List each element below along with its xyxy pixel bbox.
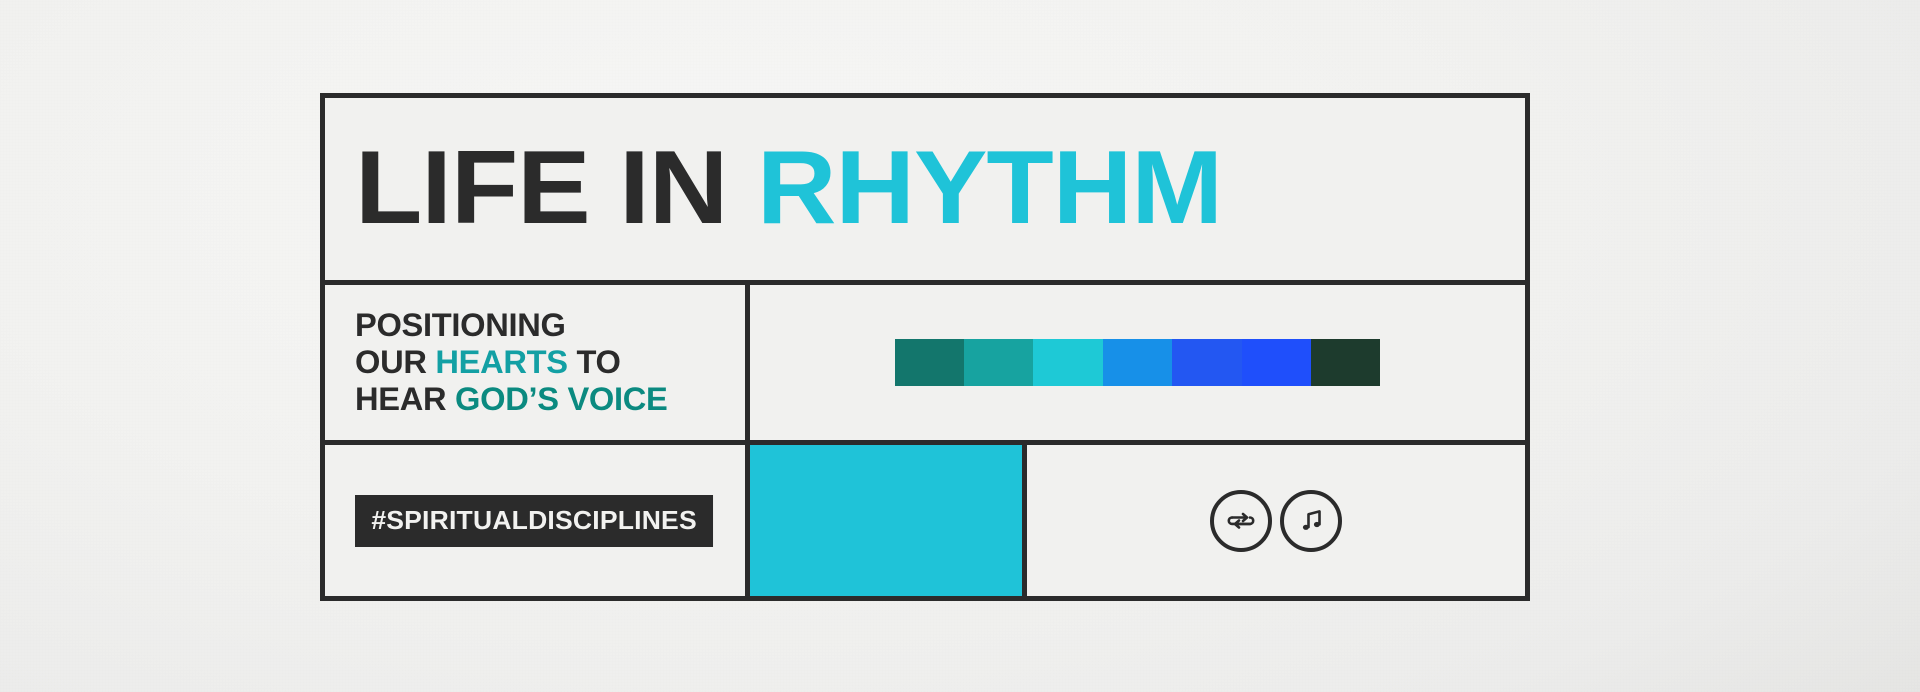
subtitle-cell: POSITIONING OUR HEARTS TO HEAR GOD’S VOI… (325, 285, 750, 440)
page-title: LIFE IN RHYTHM (355, 141, 1222, 237)
subtitle-line2-highlight: HEARTS (435, 344, 567, 380)
title-row: LIFE IN RHYTHM (325, 98, 1525, 285)
subtitle-line1-text: POSITIONING (355, 307, 566, 343)
hashtag-badge: #SPIRITUALDISCIPLINES (355, 495, 713, 547)
subtitle-row: POSITIONING OUR HEARTS TO HEAR GOD’S VOI… (325, 285, 1525, 445)
swatch-cyan (1033, 339, 1102, 386)
subtitle-line-1: POSITIONING (355, 307, 753, 344)
poster-card: LIFE IN RHYTHM POSITIONING OUR HEARTS TO… (320, 93, 1530, 601)
title-accent-part: RHYTHM (757, 130, 1222, 246)
subtitle-line-2: OUR HEARTS TO (355, 344, 753, 381)
icons-cell (1027, 445, 1525, 596)
swatch-teal-mid (964, 339, 1033, 386)
music-note-icon (1295, 505, 1327, 537)
palette-cell (750, 285, 1525, 440)
repeat-icon (1224, 504, 1258, 538)
color-palette-strip (895, 339, 1381, 386)
subtitle-line3-highlight: GOD’S VOICE (455, 381, 667, 417)
accent-color-block (750, 445, 1027, 596)
swatch-blue-light (1103, 339, 1172, 386)
subtitle-line2-lead: OUR (355, 344, 435, 380)
hashtag-cell: #SPIRITUALDISCIPLINES (325, 445, 750, 596)
repeat-icon-button[interactable] (1210, 490, 1272, 552)
footer-row: #SPIRITUALDISCIPLINES (325, 445, 1525, 596)
swatch-teal-dark (895, 339, 964, 386)
swatch-green-dark (1311, 339, 1380, 386)
swatch-blue-mid (1172, 339, 1241, 386)
title-dark-part: LIFE IN (355, 130, 757, 246)
swatch-blue-bright (1242, 339, 1311, 386)
music-note-icon-button[interactable] (1280, 490, 1342, 552)
subtitle-line-3: HEAR GOD’S VOICE (355, 381, 753, 418)
subtitle-line2-tail: TO (568, 344, 621, 380)
subtitle-line3-lead: HEAR (355, 381, 455, 417)
